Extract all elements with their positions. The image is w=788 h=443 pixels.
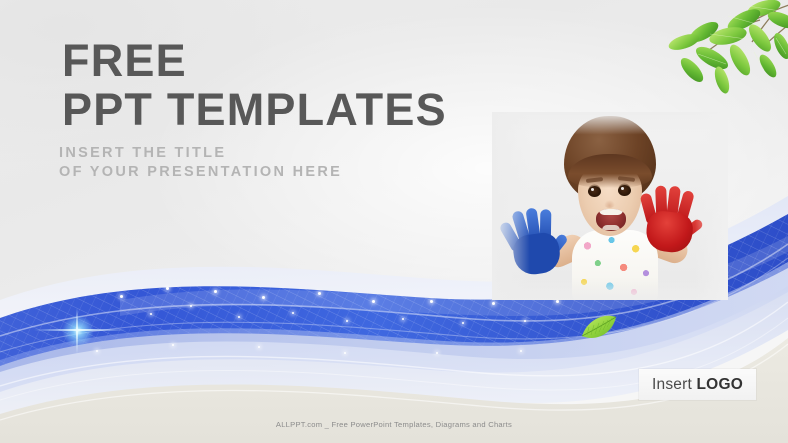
- sparkle: [258, 346, 260, 348]
- sparkle: [372, 300, 375, 303]
- subtitle-block[interactable]: INSERT THE TITLE OF YOUR PRESENTATION HE…: [59, 144, 342, 182]
- sparkle: [430, 300, 433, 303]
- title-line-1: FREE: [62, 36, 492, 85]
- sparkle: [402, 318, 404, 320]
- leaf-branch-icon: [664, 0, 788, 106]
- blue-painted-hand: [500, 204, 571, 278]
- title-block: FREE PPT TEMPLATES: [62, 36, 492, 134]
- sparkle: [166, 287, 169, 290]
- red-painted-hand: [636, 182, 706, 255]
- subtitle-line-1: INSERT THE TITLE: [59, 144, 342, 163]
- sparkle: [238, 316, 240, 318]
- sparkle: [524, 320, 526, 322]
- footer-credit: ALLPPT.com _ Free PowerPoint Templates, …: [0, 420, 788, 429]
- subtitle-line-2: OF YOUR PRESENTATION HERE: [59, 163, 342, 182]
- sparkle: [150, 313, 152, 315]
- sparkle: [556, 300, 559, 303]
- child-eye-highlight-right: [621, 187, 624, 190]
- light-flare-ray-vertical: [76, 308, 78, 354]
- title-line-2: PPT TEMPLATES: [62, 85, 492, 134]
- sparkle: [344, 352, 346, 354]
- child-eye-highlight-left: [591, 188, 594, 191]
- insert-logo-prefix: Insert: [652, 376, 696, 393]
- insert-logo-emphasis: LOGO: [697, 376, 743, 393]
- sparkle: [436, 352, 438, 354]
- sparkle: [172, 344, 174, 346]
- child-nose: [604, 200, 615, 208]
- palm: [644, 209, 695, 254]
- sparkle: [214, 290, 217, 293]
- sparkle: [318, 292, 321, 295]
- sparkle: [262, 296, 265, 299]
- presentation-slide: FREE PPT TEMPLATES INSERT THE TITLE OF Y…: [0, 0, 788, 443]
- child-eye-right: [618, 185, 631, 196]
- child-photo: [492, 112, 728, 300]
- light-flare-ray-horizontal: [34, 329, 126, 331]
- sparkle: [462, 322, 464, 324]
- sparkle: [120, 295, 123, 298]
- child-teeth-lower: [602, 225, 620, 230]
- sparkle: [520, 350, 522, 352]
- palm: [511, 231, 562, 277]
- sparkle: [292, 312, 294, 314]
- child-teeth-upper: [599, 209, 623, 215]
- child-mouth: [596, 209, 626, 231]
- insert-logo-label: Insert LOGO: [652, 376, 743, 394]
- light-flare: [62, 315, 94, 347]
- child-eye-left: [588, 186, 601, 197]
- small-leaf-icon: [578, 312, 620, 344]
- insert-logo-placeholder[interactable]: Insert LOGO: [639, 369, 756, 400]
- sparkle: [96, 350, 98, 352]
- sparkle: [190, 305, 192, 307]
- sparkle: [492, 302, 495, 305]
- sparkle: [346, 320, 348, 322]
